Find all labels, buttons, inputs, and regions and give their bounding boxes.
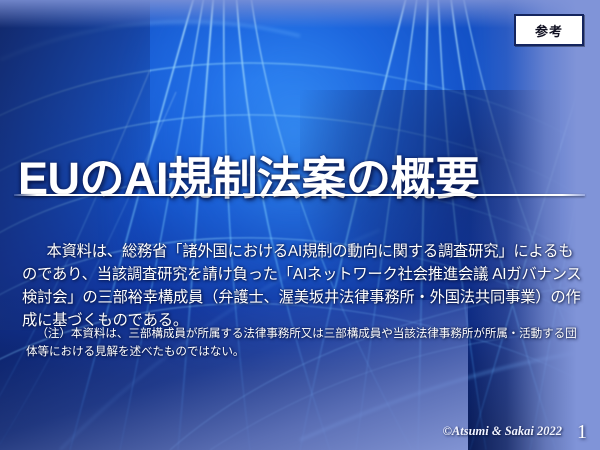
reference-badge-label: 参考: [535, 21, 563, 40]
page-number: 1: [577, 421, 587, 444]
body-text-block: 本資料は、総務省「諸外国におけるAI規制の動向に関する調査研究」によるものであり…: [22, 240, 584, 332]
presentation-slide: 参考 EUのAI規制法案の概要 本資料は、総務省「諸外国におけるAI規制の動向に…: [0, 0, 600, 450]
note-text-block: （注）本資料は、三部構成員が所属する法律事務所又は三部構成員や当該法律事務所が所…: [26, 325, 582, 360]
copyright-notice: ©Atsumi & Sakai 2022: [443, 424, 562, 439]
title-divider: [14, 194, 585, 196]
reference-badge: 参考: [514, 14, 584, 46]
background-right-tint: [470, 0, 600, 450]
note-paragraph: （注）本資料は、三部構成員が所属する法律事務所又は三部構成員や当該法律事務所が所…: [26, 325, 582, 360]
body-paragraph: 本資料は、総務省「諸外国におけるAI規制の動向に関する調査研究」によるものであり…: [22, 240, 584, 332]
